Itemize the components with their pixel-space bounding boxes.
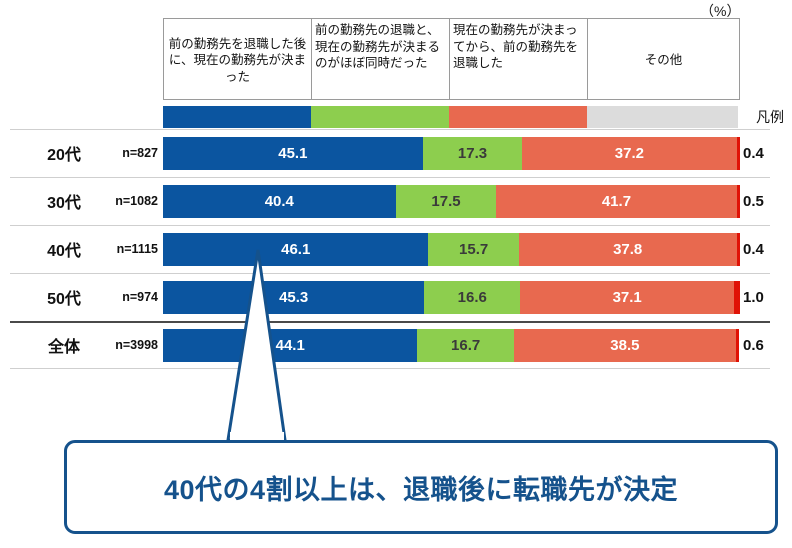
row-category-label: 全体 <box>18 321 110 369</box>
legend-header-cell-1: 前の勤務先の退職と、現在の勤務先が決まるのがほぼ同時だった <box>312 19 450 99</box>
bar-segment-2: 16.7 <box>417 329 513 362</box>
table-row: 全体n=399844.116.738.50.6 <box>0 321 792 369</box>
legend-header-cell-2: 現在の勤務先が決まってから、前の勤務先を退職した <box>450 19 588 99</box>
row-category-label: 40代 <box>18 225 110 273</box>
bar-segment-1: 45.1 <box>163 137 423 170</box>
table-row: 50代n=97445.316.637.11.0 <box>0 273 792 321</box>
table-row: 30代n=108240.417.541.70.5 <box>0 177 792 225</box>
legend-swatches <box>163 106 740 128</box>
bar-segment-4 <box>737 233 741 266</box>
legend-swatch-1 <box>311 106 449 128</box>
row-sample-size: n=974 <box>100 273 158 321</box>
bar-segment-4 <box>737 137 741 170</box>
legend-swatch-row: 凡例 <box>0 104 792 129</box>
bar-segment-2: 16.6 <box>424 281 520 314</box>
stacked-bar: 40.417.541.7 <box>163 185 740 218</box>
bar-segment-4-value-label: 0.4 <box>743 137 764 170</box>
legend-header-label-2: 現在の勤務先が決まってから、前の勤務先を退職した <box>453 22 584 72</box>
row-sample-size: n=827 <box>100 129 158 177</box>
legend-swatch-3 <box>587 106 738 128</box>
stacked-bar: 45.117.337.2 <box>163 137 740 170</box>
legend-header-label-3: その他 <box>591 52 736 69</box>
bar-segment-4-value-label: 0.4 <box>743 233 764 266</box>
legend-swatch-2 <box>449 106 587 128</box>
legend-header-table: 前の勤務先を退職した後に、現在の勤務先が決まった 前の勤務先の退職と、現在の勤務… <box>163 18 740 100</box>
legend-header-cell-3: その他 <box>588 19 739 99</box>
bar-segment-1: 45.3 <box>163 281 424 314</box>
stacked-bar: 45.316.637.1 <box>163 281 740 314</box>
bar-segment-3: 37.1 <box>520 281 734 314</box>
bar-segment-3: 38.5 <box>514 329 736 362</box>
bar-segment-3: 37.8 <box>519 233 737 266</box>
row-category-label: 20代 <box>18 129 110 177</box>
bar-segment-1: 40.4 <box>163 185 396 218</box>
bar-segment-3: 37.2 <box>522 137 736 170</box>
callout-box: 40代の4割以上は、退職後に転職先が決定 <box>64 440 778 534</box>
bar-segment-2: 15.7 <box>428 233 518 266</box>
chart-canvas: （%） 前の勤務先を退職した後に、現在の勤務先が決まった 前の勤務先の退職と、現… <box>0 0 792 548</box>
row-category-label: 30代 <box>18 177 110 225</box>
stacked-bar: 44.116.738.5 <box>163 329 740 362</box>
bar-segment-4-value-label: 0.5 <box>743 185 764 218</box>
table-row: 40代n=111546.115.737.80.4 <box>0 225 792 273</box>
bar-segment-2: 17.5 <box>396 185 497 218</box>
callout-text: 40代の4割以上は、退職後に転職先が決定 <box>164 468 678 507</box>
bar-segment-1: 44.1 <box>163 329 417 362</box>
legend-swatch-0 <box>163 106 311 128</box>
row-sample-size: n=1082 <box>100 177 158 225</box>
row-sample-size: n=1115 <box>100 225 158 273</box>
bar-segment-4 <box>736 329 740 362</box>
bar-segment-4 <box>734 281 740 314</box>
bar-segment-4-value-label: 1.0 <box>743 281 764 314</box>
row-sample-size: n=3998 <box>100 321 158 369</box>
legend-header-cell-0: 前の勤務先を退職した後に、現在の勤務先が決まった <box>164 19 312 99</box>
stacked-bar: 46.115.737.8 <box>163 233 740 266</box>
bar-segment-3: 41.7 <box>496 185 736 218</box>
bar-segment-4 <box>737 185 741 218</box>
row-category-label: 50代 <box>18 273 110 321</box>
stacked-bar-chart: 20代n=82745.117.337.20.430代n=108240.417.5… <box>0 129 792 369</box>
bar-segment-2: 17.3 <box>423 137 523 170</box>
bar-segment-1: 46.1 <box>163 233 428 266</box>
legend-header-label-0: 前の勤務先を退職した後に、現在の勤務先が決まった <box>167 36 308 86</box>
table-row: 20代n=82745.117.337.20.4 <box>0 129 792 177</box>
bar-segment-4-value-label: 0.6 <box>743 329 764 362</box>
legend-header-label-1: 前の勤務先の退職と、現在の勤務先が決まるのがほぼ同時だった <box>315 22 446 72</box>
